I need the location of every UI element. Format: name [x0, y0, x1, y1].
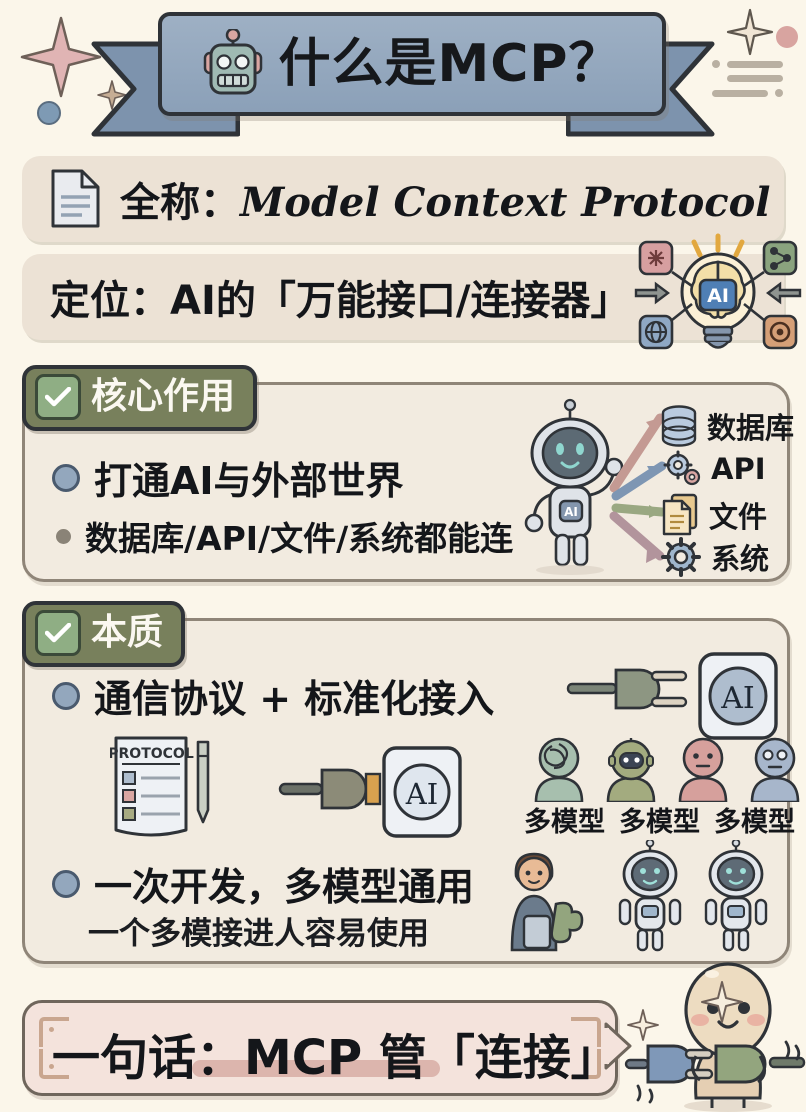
bullet-core-1: 打通AI与外部世界: [52, 450, 404, 505]
files-icon: [660, 492, 700, 538]
card-positioning: 定位：AI的「万能接口/连接器」: [22, 254, 784, 340]
summary-text: 一句话：MCP 管「连接」: [52, 1018, 619, 1088]
card-positioning-label: 定位：: [50, 278, 170, 324]
bullet-core-2-text: 数据库/API/文件/系统都能连: [85, 512, 513, 560]
header-plate: 什么是MCP？: [158, 12, 666, 116]
check-icon: [35, 610, 81, 656]
bullet-essence-1: 通信协议 + 标准化接入: [52, 668, 494, 723]
blob-avatar-icon: [672, 736, 734, 802]
bullet-essence-2: 一次开发，多模型通用: [52, 856, 474, 911]
card-positioning-text: 定位：AI的「万能接口/连接器」: [50, 268, 630, 326]
badge-essence[interactable]: 本质: [22, 601, 185, 667]
card-full-name-value: Model Context Protocol: [240, 179, 771, 226]
target-files-label: 文件: [709, 494, 767, 536]
card-positioning-value: AI的「万能接口/连接器」: [170, 278, 630, 324]
gears-icon: [662, 450, 702, 488]
target-database-label: 数据库: [707, 405, 794, 447]
robot-head-icon: [202, 29, 264, 99]
card-full-name-text: 全称：Model Context Protocol: [120, 170, 771, 228]
infographic-page: 什么是MCP？ 全称：Model Context Protocol 定位：AI的…: [0, 0, 806, 1112]
bullet-marker-ring: [52, 464, 80, 492]
sparkle-icon-1: [700, 980, 744, 1024]
badge-core-function[interactable]: 核心作用: [22, 365, 257, 431]
target-system-label: 系统: [711, 536, 769, 578]
page-title: 什么是MCP？: [278, 38, 621, 90]
card-full-name-label: 全称：: [120, 180, 240, 226]
avatar-label-2: 多模型: [619, 800, 700, 839]
essence-subtext: 一个多模接进人容易使用: [88, 908, 429, 953]
figure-avatar-icon: [744, 736, 806, 802]
target-system: 系统: [660, 536, 769, 578]
badge-essence-label: 本质: [91, 615, 163, 651]
document-icon: [48, 168, 102, 230]
bullet-marker-small: [56, 529, 71, 544]
bullet-core-1-text: 打通AI与外部世界: [94, 450, 404, 505]
bullet-core-2: 数据库/API/文件/系统都能连: [56, 512, 513, 560]
swirl-avatar-icon: [528, 736, 590, 802]
bullet-essence-2-text: 一次开发，多模型通用: [94, 856, 474, 911]
avatar-labels: 多模型 多模型 多模型: [524, 800, 795, 839]
target-api: API: [662, 450, 766, 488]
blue-plug-icon: [626, 1046, 712, 1082]
check-icon: [35, 374, 81, 420]
avatar-label-3: 多模型: [714, 800, 795, 839]
database-icon: [660, 404, 698, 448]
badge-core-function-label: 核心作用: [91, 379, 235, 415]
model-avatars: [528, 736, 806, 802]
green-plug-icon: [716, 1046, 804, 1082]
gear-icon: [660, 536, 702, 578]
bullet-essence-1-text: 通信协议 + 标准化接入: [94, 668, 494, 723]
mascot-with-plugs-icon: [620, 958, 806, 1112]
target-api-label: API: [711, 452, 766, 486]
sparkle-icon-2: [626, 1008, 660, 1042]
avatar-label-1: 多模型: [524, 800, 605, 839]
target-files: 文件: [660, 492, 767, 538]
header-ribbon: 什么是MCP？: [0, 4, 806, 144]
bullet-marker-ring: [52, 870, 80, 898]
bullet-marker-ring: [52, 682, 80, 710]
target-database: 数据库: [660, 404, 794, 448]
robot-avatar-icon: [600, 736, 662, 802]
card-full-name: 全称：Model Context Protocol: [22, 156, 784, 242]
